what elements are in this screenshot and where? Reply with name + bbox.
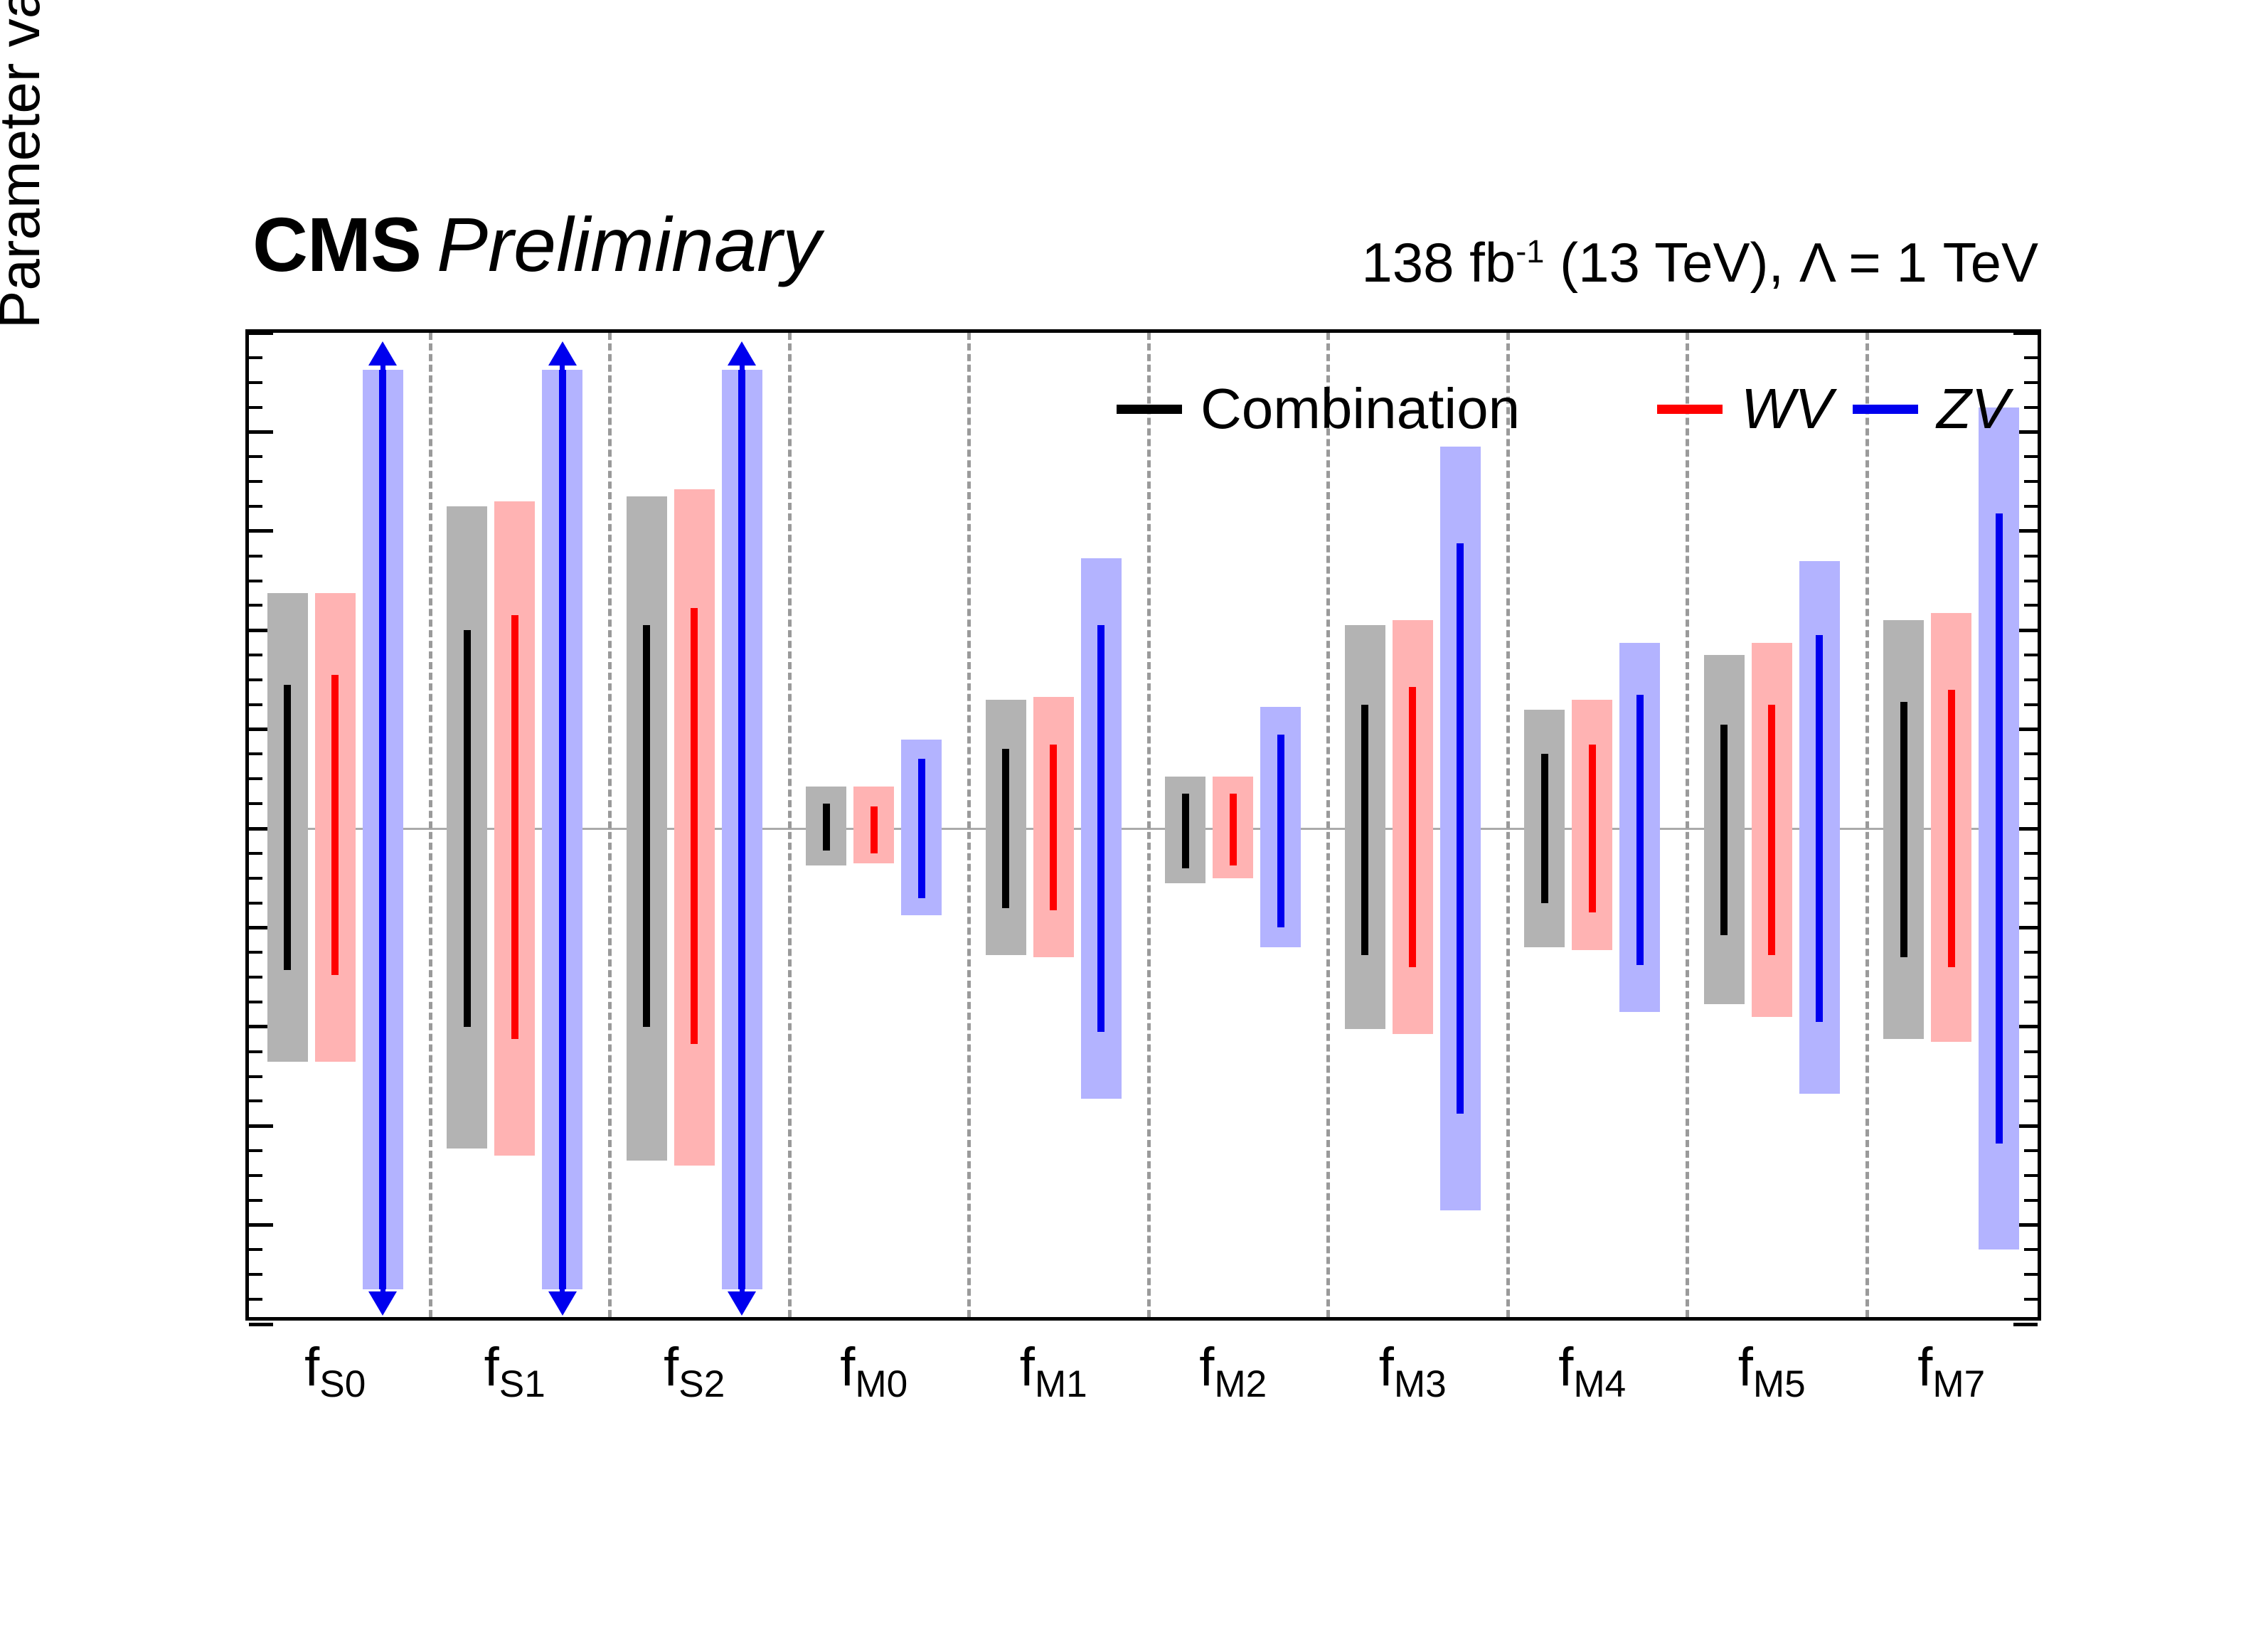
- limit-arrow-down-icon: [548, 1291, 577, 1316]
- y-axis-minor-tick: [249, 802, 262, 805]
- y-axis-minor-tick: [2024, 381, 2038, 384]
- interval-line-combination-f_s1: [464, 630, 471, 1027]
- legend-swatch-wv-icon: [1657, 405, 1723, 414]
- group-separator: [1147, 333, 1151, 1317]
- interval-line-zv-f_m4: [1636, 695, 1644, 965]
- x-axis-tick-label-f_s0: fS0: [245, 1341, 425, 1403]
- interval-line-wv-f_s1: [511, 615, 518, 1039]
- x-axis-tick-label-f_s2: fS2: [605, 1341, 784, 1403]
- x-label-base: f: [484, 1337, 499, 1397]
- x-label-subscript: M4: [1573, 1363, 1626, 1405]
- interval-line-combination-f_m5: [1720, 725, 1728, 935]
- lumi-value: 138 fb: [1361, 231, 1516, 294]
- y-axis-minor-tick: [2024, 480, 2038, 483]
- y-axis-major-tick: [249, 529, 273, 533]
- x-label-subscript: M0: [855, 1363, 907, 1405]
- y-axis-minor-tick: [249, 555, 262, 558]
- y-axis-minor-tick: [249, 1050, 262, 1053]
- x-label-subscript: M7: [1932, 1363, 1985, 1405]
- y-axis-minor-tick: [249, 752, 262, 755]
- y-axis-minor-tick: [2024, 703, 2038, 706]
- group-separator: [608, 333, 612, 1317]
- y-axis-minor-tick: [249, 703, 262, 706]
- y-axis-major-tick: [249, 1223, 273, 1227]
- y-axis-minor-tick: [2024, 1075, 2038, 1078]
- y-axis-minor-tick: [249, 678, 262, 681]
- x-axis-tick-label-f_m0: fM0: [784, 1341, 964, 1403]
- interval-line-combination-f_m1: [1002, 749, 1009, 907]
- y-axis-minor-tick: [249, 1174, 262, 1177]
- y-axis-minor-tick: [249, 951, 262, 954]
- x-label-subscript: S0: [319, 1363, 366, 1405]
- y-axis-minor-tick: [2024, 1273, 2038, 1276]
- group-separator: [1686, 333, 1689, 1317]
- y-axis-minor-tick: [2024, 877, 2038, 880]
- legend-item-wv[interactable]: WV: [1657, 370, 1833, 448]
- y-axis-minor-tick: [2024, 1298, 2038, 1301]
- x-label-base: f: [1917, 1337, 1932, 1397]
- interval-line-wv-f_m0: [871, 806, 878, 853]
- y-axis-minor-tick: [249, 1149, 262, 1152]
- x-label-base: f: [304, 1337, 319, 1397]
- cms-header: CMSPreliminary: [252, 206, 821, 283]
- interval-line-zv-f_s1: [559, 370, 566, 1289]
- x-label-base: f: [1738, 1337, 1753, 1397]
- y-axis-major-tick: [2013, 331, 2038, 335]
- group-separator: [967, 333, 971, 1317]
- interval-line-combination-f_s0: [284, 685, 291, 970]
- x-axis-tick-label-f_m7: fM7: [1862, 1341, 2042, 1403]
- interval-line-wv-f_m7: [1948, 690, 1955, 967]
- interval-line-combination-f_m7: [1900, 702, 1907, 957]
- x-label-base: f: [1199, 1337, 1214, 1397]
- x-label-subscript: S2: [678, 1363, 725, 1405]
- x-label-subscript: M1: [1035, 1363, 1087, 1405]
- interval-line-zv-f_m5: [1816, 635, 1823, 1022]
- y-axis-major-tick: [249, 1323, 273, 1326]
- y-axis-minor-tick: [249, 455, 262, 458]
- y-axis-minor-tick: [2024, 976, 2038, 979]
- group-separator: [1865, 333, 1869, 1317]
- y-axis-minor-tick: [2024, 951, 2038, 954]
- plot-area: [249, 333, 2038, 1317]
- interval-line-combination-f_m4: [1541, 754, 1548, 902]
- y-axis-major-tick: [2013, 1323, 2038, 1326]
- x-axis-tick-label-f_m5: fM5: [1682, 1341, 1862, 1403]
- y-axis-minor-tick: [249, 902, 262, 905]
- limit-arrow-down-icon: [728, 1291, 756, 1316]
- y-axis-minor-tick: [249, 852, 262, 855]
- y-axis-minor-tick: [249, 480, 262, 483]
- y-axis-minor-tick: [2024, 902, 2038, 905]
- y-axis-minor-tick: [2024, 406, 2038, 409]
- group-separator: [1506, 333, 1510, 1317]
- interval-line-combination-f_s2: [643, 625, 650, 1027]
- legend: CombinationWVZV: [1117, 370, 2020, 448]
- y-axis-title: Parameter value: [0, 0, 53, 329]
- y-axis-minor-tick: [2024, 777, 2038, 780]
- interval-line-combination-f_m3: [1361, 705, 1368, 955]
- x-axis-tick-label-f_m3: fM3: [1323, 1341, 1503, 1403]
- y-axis-minor-tick: [2024, 505, 2038, 508]
- luminosity-energy-label: 138 fb-1 (13 TeV), Λ = 1 TeV: [1361, 235, 2038, 290]
- x-label-base: f: [1020, 1337, 1035, 1397]
- y-axis-minor-tick: [249, 1001, 262, 1003]
- y-axis-minor-tick: [249, 604, 262, 607]
- y-axis-major-tick: [249, 430, 273, 434]
- x-label-subscript: S1: [499, 1363, 545, 1405]
- group-separator: [788, 333, 792, 1317]
- interval-line-combination-f_m2: [1182, 794, 1189, 868]
- lumi-exponent: -1: [1516, 233, 1544, 270]
- interval-line-wv-f_m5: [1768, 705, 1775, 955]
- interval-line-wv-f_m2: [1230, 794, 1237, 865]
- limit-arrow-down-icon: [368, 1291, 397, 1316]
- y-axis-minor-tick: [249, 381, 262, 384]
- group-separator: [429, 333, 432, 1317]
- group-separator: [1326, 333, 1330, 1317]
- interval-line-wv-f_s0: [331, 675, 339, 975]
- y-axis-minor-tick: [2024, 654, 2038, 656]
- y-axis-minor-tick: [2024, 555, 2038, 558]
- x-label-base: f: [840, 1337, 855, 1397]
- y-axis-minor-tick: [2024, 678, 2038, 681]
- x-label-subscript: M5: [1753, 1363, 1806, 1405]
- x-label-subscript: M2: [1214, 1363, 1267, 1405]
- interval-line-zv-f_s0: [379, 370, 386, 1289]
- interval-line-wv-f_m3: [1409, 687, 1416, 967]
- interval-line-wv-f_m1: [1050, 745, 1057, 910]
- y-axis-minor-tick: [2024, 1199, 2038, 1202]
- chart-canvas: CMSPreliminary 138 fb-1 (13 TeV), Λ = 1 …: [0, 0, 2241, 1652]
- y-axis-minor-tick: [2024, 752, 2038, 755]
- y-axis-minor-tick: [2024, 1001, 2038, 1003]
- legend-item-zv[interactable]: ZV: [1853, 370, 2009, 448]
- legend-item-combination[interactable]: Combination: [1117, 370, 1520, 448]
- y-axis-minor-tick: [2024, 580, 2038, 582]
- y-axis-minor-tick: [2024, 1248, 2038, 1251]
- lumi-suffix: (13 TeV), Λ = 1 TeV: [1544, 231, 2038, 294]
- y-axis-minor-tick: [2024, 802, 2038, 805]
- x-label-subscript: M3: [1394, 1363, 1447, 1405]
- y-axis-minor-tick: [249, 1099, 262, 1102]
- legend-swatch-zv-icon: [1853, 405, 1918, 414]
- y-axis-minor-tick: [2024, 1149, 2038, 1152]
- y-axis-minor-tick: [2024, 1050, 2038, 1053]
- y-axis-minor-tick: [249, 505, 262, 508]
- x-axis-tick-label-f_m4: fM4: [1503, 1341, 1683, 1403]
- x-label-base: f: [1379, 1337, 1394, 1397]
- x-axis-tick-label-f_m2: fM2: [1144, 1341, 1324, 1403]
- x-axis-tick-label-f_s1: fS1: [425, 1341, 605, 1403]
- interval-line-zv-f_m0: [918, 759, 925, 897]
- y-axis-major-tick: [249, 331, 273, 335]
- y-axis-minor-tick: [2024, 455, 2038, 458]
- limit-arrow-up-icon: [548, 341, 577, 366]
- interval-line-zv-f_m1: [1097, 625, 1104, 1032]
- x-axis-tick-label-f_m1: fM1: [964, 1341, 1144, 1403]
- y-axis-minor-tick: [2024, 852, 2038, 855]
- y-axis-minor-tick: [249, 356, 262, 359]
- y-axis-minor-tick: [2024, 604, 2038, 607]
- preliminary-text: Preliminary: [437, 201, 821, 287]
- y-axis-minor-tick: [249, 777, 262, 780]
- y-axis-minor-tick: [2024, 1099, 2038, 1102]
- interval-line-zv-f_m7: [1996, 513, 2003, 1143]
- y-axis-minor-tick: [249, 1248, 262, 1251]
- interval-line-zv-f_m2: [1277, 735, 1284, 928]
- y-axis-minor-tick: [2024, 356, 2038, 359]
- interval-line-combination-f_m0: [823, 804, 830, 851]
- y-axis-minor-tick: [249, 1075, 262, 1078]
- legend-label: WV: [1741, 380, 1833, 437]
- y-axis-minor-tick: [249, 580, 262, 582]
- interval-line-wv-f_s2: [691, 608, 698, 1044]
- legend-label: Combination: [1201, 380, 1520, 437]
- y-axis-minor-tick: [249, 1273, 262, 1276]
- y-axis-minor-tick: [249, 406, 262, 409]
- y-axis-minor-tick: [2024, 1174, 2038, 1177]
- y-axis-minor-tick: [249, 976, 262, 979]
- y-axis-minor-tick: [249, 654, 262, 656]
- y-axis-minor-tick: [249, 1298, 262, 1301]
- x-label-base: f: [664, 1337, 678, 1397]
- interval-line-wv-f_m4: [1589, 745, 1596, 913]
- interval-line-zv-f_m3: [1457, 543, 1464, 1114]
- legend-label: ZV: [1937, 380, 2009, 437]
- legend-swatch-combination-icon: [1117, 405, 1182, 414]
- y-axis-major-tick: [249, 1124, 273, 1128]
- cms-logo-text: CMS: [252, 201, 421, 287]
- y-axis-minor-tick: [249, 1199, 262, 1202]
- interval-line-zv-f_s2: [738, 370, 745, 1289]
- x-label-base: f: [1558, 1337, 1573, 1397]
- y-axis-minor-tick: [249, 877, 262, 880]
- limit-arrow-up-icon: [728, 341, 756, 366]
- limit-arrow-up-icon: [368, 341, 397, 366]
- plot-frame: [245, 329, 2041, 1321]
